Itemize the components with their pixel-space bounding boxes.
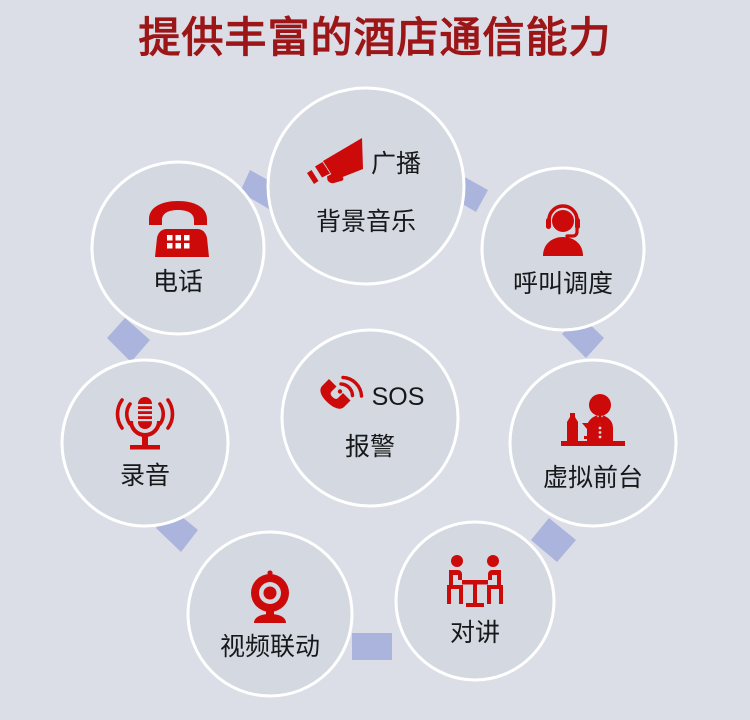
node-recording-label: 录音 — [120, 461, 170, 491]
node-intercom-label: 对讲 — [450, 618, 500, 648]
node-sos-label-line1: SOS — [372, 382, 425, 412]
node-telephone[interactable]: 电话 — [92, 162, 264, 334]
microphone-waves-icon — [106, 395, 184, 453]
node-telephone-label: 电话 — [153, 267, 203, 297]
node-video-label: 视频联动 — [220, 632, 320, 662]
node-broadcast-background-music[interactable]: 广播 背景音乐 — [268, 88, 464, 284]
node-broadcast-label-line1: 广播 — [371, 149, 421, 179]
node-virtual-front-desk[interactable]: 虚拟前台 — [510, 360, 676, 526]
ringing-phone-icon — [316, 374, 368, 420]
webcam-icon — [242, 566, 298, 624]
node-call-dispatch[interactable]: 呼叫调度 — [482, 168, 644, 330]
node-audio-recording[interactable]: 录音 — [62, 360, 228, 526]
megaphone-icon — [305, 135, 367, 193]
node-intercom[interactable]: 对讲 — [396, 522, 554, 680]
two-people-table-icon — [444, 554, 506, 610]
concierge-bartender-icon — [556, 393, 630, 455]
node-reception-label: 虚拟前台 — [543, 463, 643, 493]
node-broadcast-label-line2: 背景音乐 — [316, 207, 416, 237]
node-dispatch-label: 呼叫调度 — [513, 269, 613, 299]
desk-telephone-icon — [144, 199, 212, 259]
node-sos-label-line2: 报警 — [345, 432, 395, 462]
headset-operator-icon — [532, 199, 594, 261]
node-sos-alarm[interactable]: SOS 报警 — [282, 330, 458, 506]
node-video-linkage[interactable]: 视频联动 — [188, 532, 352, 696]
connector-intercom-video — [352, 633, 392, 660]
infographic-root: 提供丰富的酒店通信能力 — [0, 0, 750, 720]
